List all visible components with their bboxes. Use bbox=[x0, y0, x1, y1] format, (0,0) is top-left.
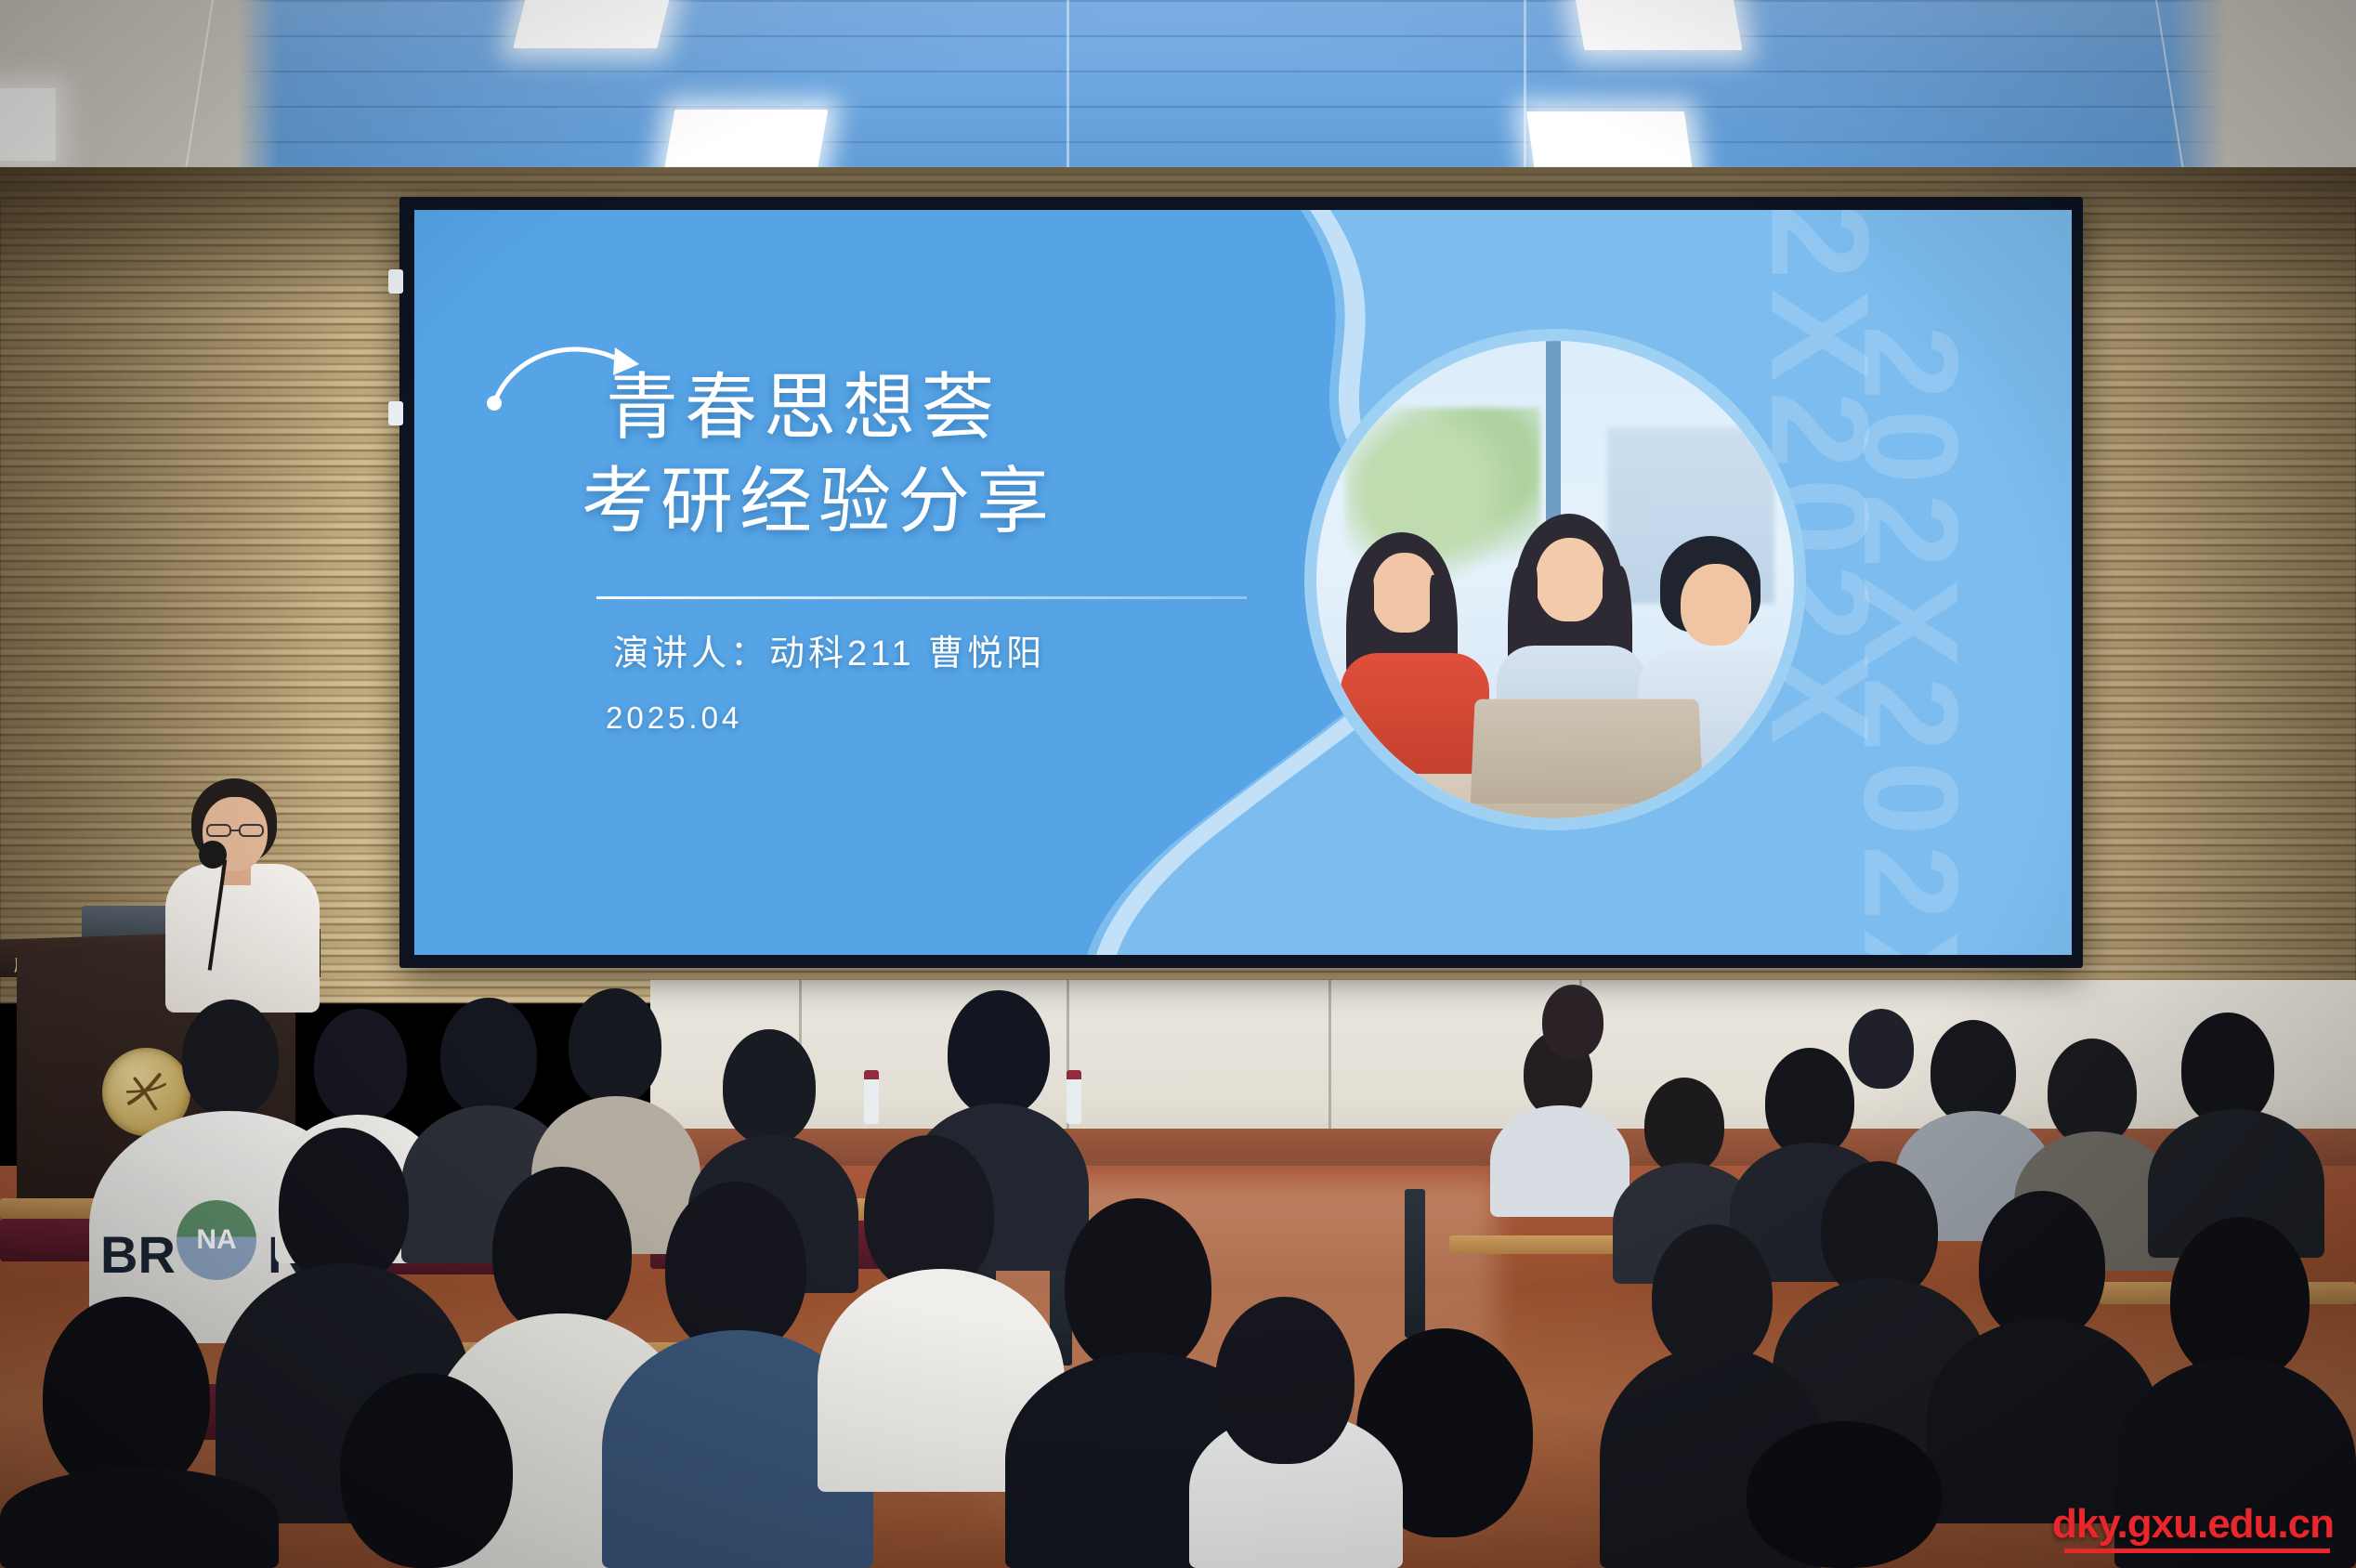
slide-year-watermark: 202X202X bbox=[1843, 325, 1978, 955]
site-watermark: dky.gxu.edu.cn bbox=[2052, 1501, 2334, 1548]
ceiling-light bbox=[513, 0, 671, 48]
audience-head bbox=[1542, 985, 1603, 1059]
ceiling-light bbox=[0, 88, 56, 161]
photo-laptop-base bbox=[1458, 804, 1718, 818]
tshirt-text-left: BR bbox=[100, 1224, 176, 1285]
audience-head bbox=[948, 990, 1050, 1117]
audience-body bbox=[1490, 1105, 1630, 1217]
crest-icon bbox=[118, 1064, 175, 1120]
stage-panel-divider bbox=[1329, 980, 1331, 1147]
lecture-hall-photo: 202X202X 202X202X 青春思想荟 考研经验分享 演讲人：动科211… bbox=[0, 0, 2356, 1568]
audience-head bbox=[314, 1009, 407, 1122]
audience-head bbox=[723, 1029, 816, 1144]
glasses-icon bbox=[206, 823, 264, 837]
slide-title-line-2: 考研经验分享 bbox=[582, 454, 1275, 548]
audience-head bbox=[1644, 1078, 1724, 1174]
water-bottle bbox=[1067, 1070, 1081, 1124]
audience-head bbox=[279, 1128, 409, 1286]
photo-student-left bbox=[1341, 532, 1480, 764]
audience-head bbox=[182, 1000, 279, 1117]
tshirt-logo-badge: NA bbox=[177, 1200, 256, 1280]
slide-photo bbox=[1316, 341, 1794, 818]
projected-slide: 202X202X 202X202X 青春思想荟 考研经验分享 演讲人：动科211… bbox=[414, 210, 2072, 955]
audience-head bbox=[569, 988, 661, 1104]
screen-clip bbox=[388, 269, 403, 294]
audience-head bbox=[665, 1182, 806, 1354]
slide-title-line-1: 青春思想荟 bbox=[606, 360, 1275, 454]
screen-clip bbox=[388, 401, 403, 425]
photo-laptop bbox=[1470, 699, 1703, 812]
audience-head bbox=[1065, 1198, 1211, 1375]
audience-head bbox=[43, 1297, 210, 1496]
slide-title: 青春思想荟 考研经验分享 bbox=[606, 360, 1275, 549]
site-watermark-underline bbox=[2064, 1548, 2330, 1553]
audience-head bbox=[1747, 1421, 1942, 1568]
bench-post bbox=[1405, 1189, 1425, 1338]
audience-head bbox=[1765, 1048, 1854, 1157]
slide-date: 2025.04 bbox=[606, 700, 742, 736]
slide-speaker-line: 演讲人：动科211 曹悦阳 bbox=[613, 624, 1045, 675]
audience-head bbox=[1849, 1009, 1914, 1089]
speaker-body bbox=[165, 864, 320, 1013]
slide-divider-rule bbox=[596, 596, 1247, 599]
water-bottle bbox=[864, 1070, 879, 1124]
audience-head bbox=[340, 1373, 513, 1568]
audience-head bbox=[2048, 1039, 2137, 1146]
ceiling-light bbox=[1575, 0, 1743, 50]
audience-body bbox=[0, 1468, 279, 1568]
audience-head bbox=[440, 998, 537, 1115]
microphone-icon bbox=[199, 841, 227, 869]
audience-head bbox=[492, 1167, 632, 1336]
audience-head bbox=[1931, 1020, 2016, 1124]
slide-photo-circle bbox=[1304, 329, 1806, 830]
audience-head bbox=[1215, 1297, 1355, 1464]
